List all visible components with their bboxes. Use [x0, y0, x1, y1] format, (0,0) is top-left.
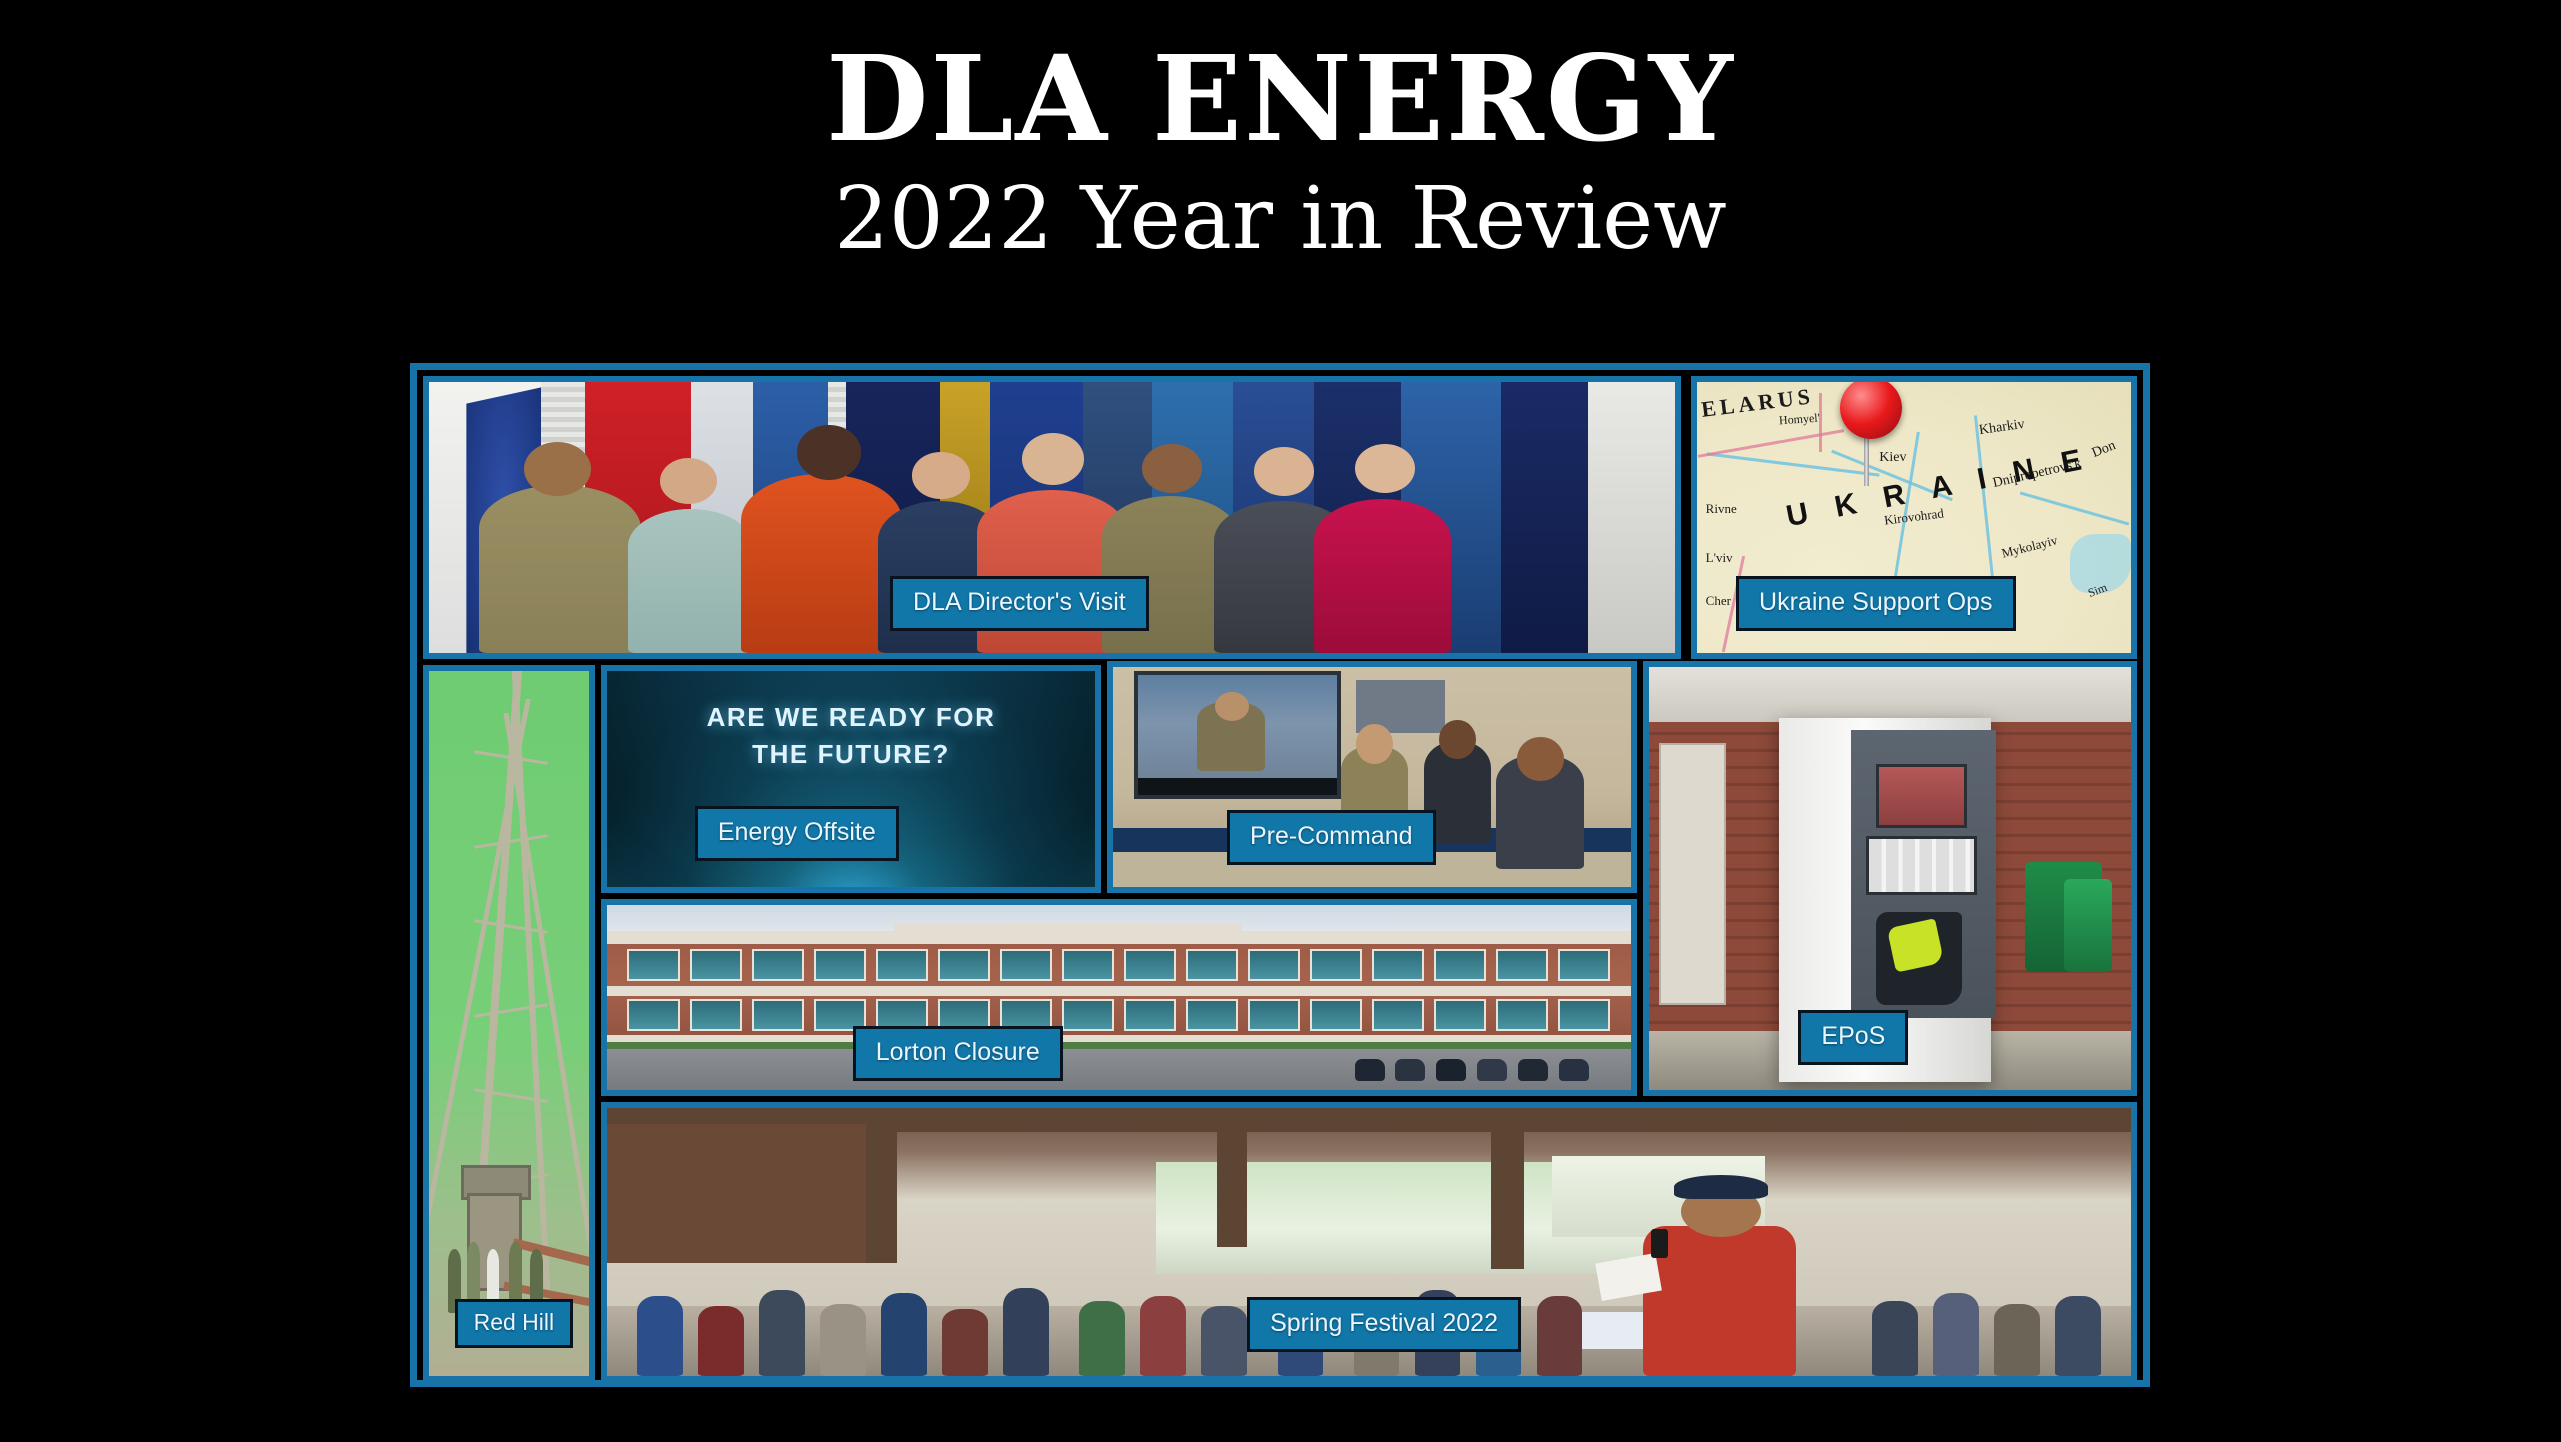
photo-red-hill [429, 671, 589, 1376]
panel-spring-festival[interactable]: Spring Festival 2022 [601, 1102, 2137, 1382]
panel-energy-offsite[interactable]: ARE WE READY FOR THE FUTURE? Energy Offs… [601, 665, 1101, 893]
poster-root: DLA ENERGY 2022 Year in Review [0, 0, 2561, 1442]
dispenser-keypad[interactable] [1866, 836, 1977, 895]
caption-pre-command[interactable]: Pre-Command [1227, 810, 1436, 865]
photo-collage: DLA Director's Visit ELARUS Homyel' Khar… [410, 363, 2150, 1387]
caption-spring-festival[interactable]: Spring Festival 2022 [1247, 1297, 1521, 1352]
page-title: DLA ENERGY [0, 40, 2561, 158]
panel-lorton-closure[interactable]: Lorton Closure [601, 899, 1637, 1096]
map-label-lviv: L'viv [1706, 550, 1733, 566]
caption-lorton-closure[interactable]: Lorton Closure [853, 1026, 1063, 1081]
offsite-slide-line-1: ARE WE READY FOR [607, 699, 1095, 736]
offsite-slide-text: ARE WE READY FOR THE FUTURE? [607, 699, 1095, 773]
caption-red-hill[interactable]: Red Hill [455, 1299, 574, 1348]
panel-pre-command[interactable]: Pre-Command [1107, 661, 1637, 893]
caption-ukraine-support-ops[interactable]: Ukraine Support Ops [1736, 576, 2015, 631]
map-label-kiev: Kiev [1879, 450, 1906, 466]
caption-dla-directors-visit[interactable]: DLA Director's Visit [890, 576, 1149, 631]
offsite-slide-line-2: THE FUTURE? [607, 736, 1095, 773]
caption-epos[interactable]: EPoS [1798, 1010, 1908, 1065]
photo-lorton-building [607, 905, 1631, 1090]
map-label-homyel: Homyel' [1779, 410, 1821, 428]
panel-red-hill[interactable]: Red Hill [423, 665, 595, 1382]
conference-monitor [1134, 671, 1341, 799]
caption-energy-offsite[interactable]: Energy Offsite [695, 806, 899, 861]
map-label-cher: Cher [1706, 593, 1731, 609]
panel-ukraine-support-ops[interactable]: ELARUS Homyel' Kharkiv Kiev Dnipropetrov… [1691, 376, 2137, 659]
panel-epos[interactable]: EPoS [1643, 661, 2137, 1096]
fuel-nozzle-icon [1876, 912, 1963, 1005]
page-subtitle: 2022 Year in Review [0, 166, 2561, 274]
poster-header: DLA ENERGY 2022 Year in Review [0, 40, 2561, 274]
map-label-rivne: Rivne [1706, 501, 1737, 517]
panel-dla-directors-visit[interactable]: DLA Director's Visit [423, 376, 1681, 659]
